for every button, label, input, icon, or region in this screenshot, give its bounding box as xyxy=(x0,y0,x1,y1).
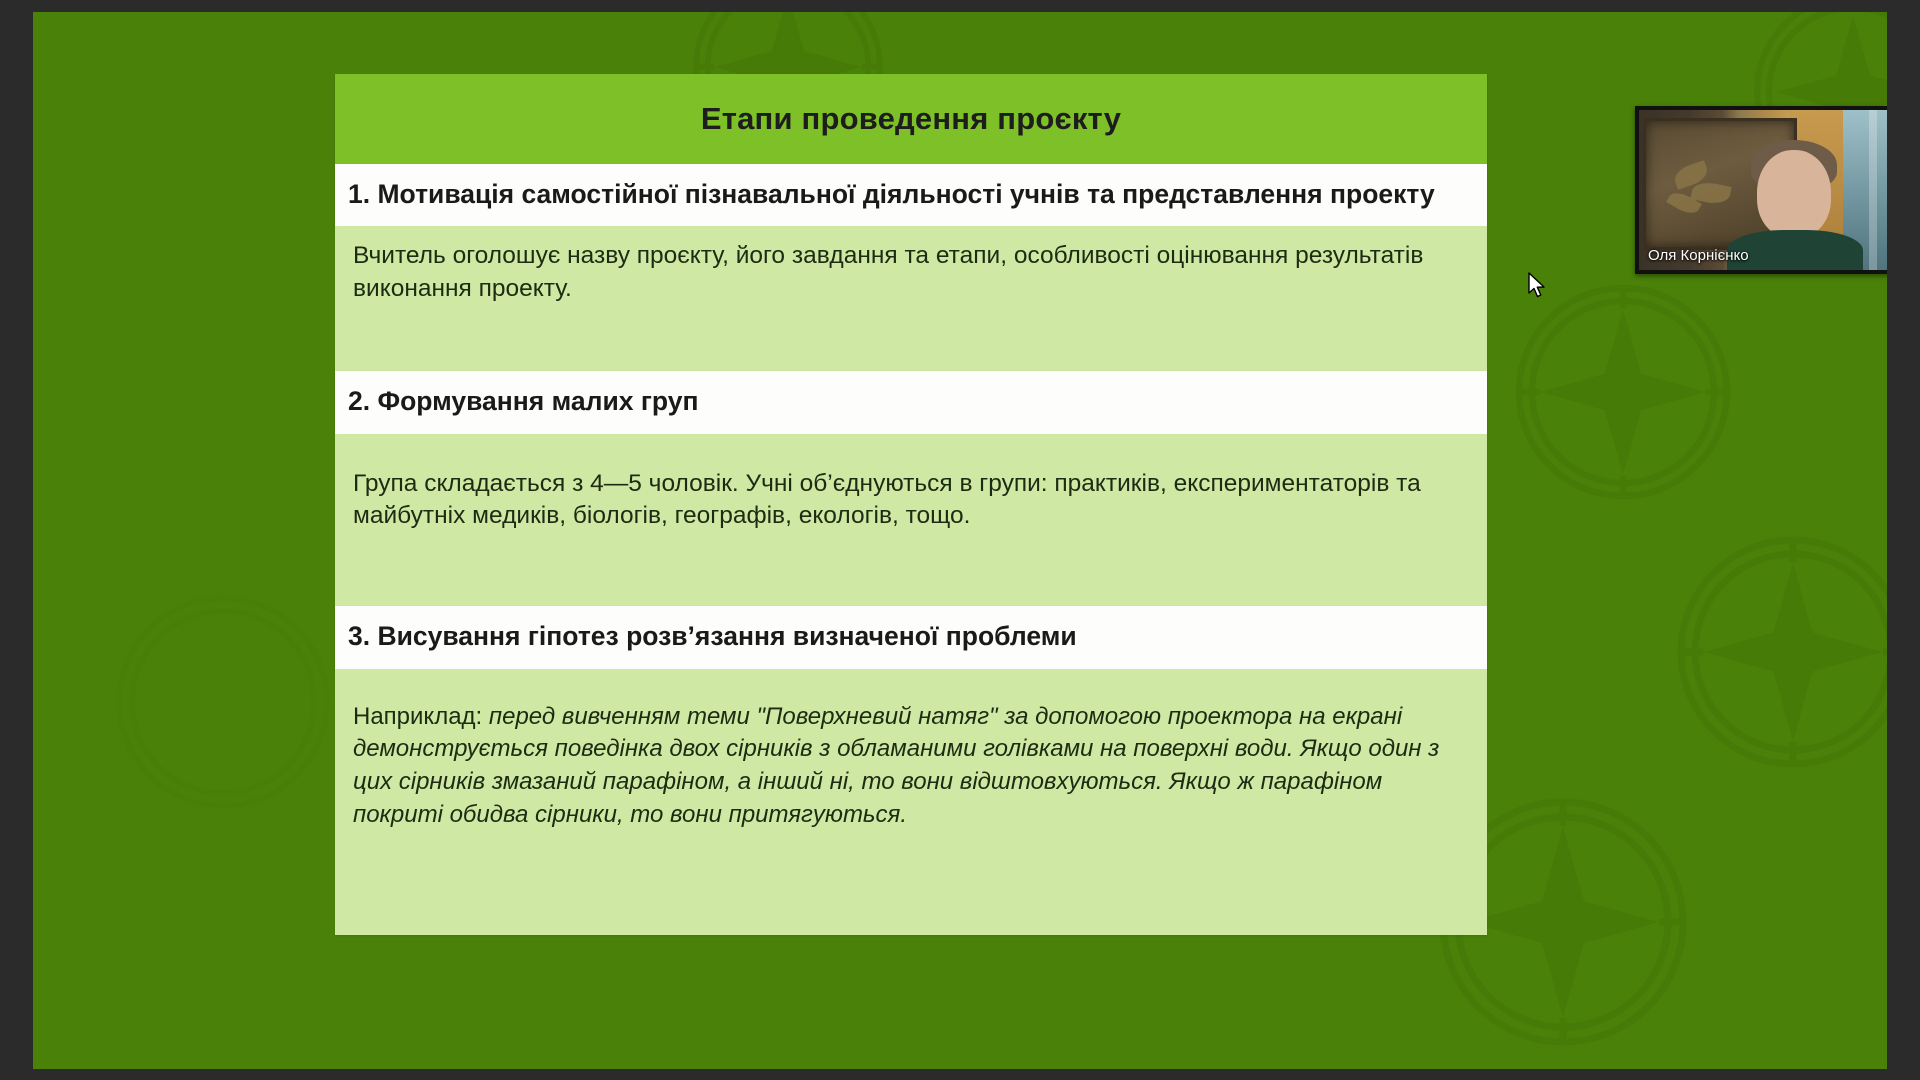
section-heading-2: 2. Формування малих груп xyxy=(335,371,1487,433)
section-heading-text: 2. Формування малих груп xyxy=(343,384,1487,418)
section-heading-text: 1. Мотивація самостійної пізнавальної ді… xyxy=(343,177,1487,211)
section-body-text: Вчитель оголошує назву проєкту, його зав… xyxy=(335,226,1487,319)
compass-icon xyxy=(1493,262,1753,522)
section-body-1: Вчитель оголошує назву проєкту, його зав… xyxy=(335,226,1487,371)
slide-title-bar: Етапи проведення проєкту xyxy=(335,74,1487,164)
section-heading-3: 3. Висування гіпотез розв’язання визначе… xyxy=(335,606,1487,668)
page-title: Етапи проведення проєкту xyxy=(701,101,1121,137)
participant-video-tile[interactable]: Оля Корнієнко xyxy=(1635,106,1887,274)
screen-share-window: Етапи проведення проєкту 1. Мотивація са… xyxy=(0,0,1920,1080)
window-frame-bar xyxy=(1869,110,1877,274)
section-body-text: Група складається з 4—5 чоловік. Учні об… xyxy=(335,454,1487,547)
section-body-2: Група складається з 4—5 чоловік. Учні об… xyxy=(335,434,1487,607)
section-body-italic: перед вивченням теми "Поверхневий натяг"… xyxy=(353,703,1439,828)
section-heading-1: 1. Мотивація самостійної пізнавальної ді… xyxy=(335,164,1487,226)
slide-content-card: Етапи проведення проєкту 1. Мотивація са… xyxy=(335,74,1487,994)
section-body-text: Наприклад: перед вивченням теми "Поверхн… xyxy=(335,687,1487,846)
section-heading-text: 3. Висування гіпотез розв’язання визначе… xyxy=(343,619,1487,653)
compass-icon xyxy=(93,572,353,832)
section-body-lead: Наприклад: xyxy=(353,703,489,730)
participant-face xyxy=(1757,150,1831,238)
participant-name-label: Оля Корнієнко xyxy=(1644,247,1753,266)
presentation-stage: Етапи проведення проєкту 1. Мотивація са… xyxy=(33,12,1887,1069)
section-body-3: Наприклад: перед вивченням теми "Поверхн… xyxy=(335,669,1487,936)
compass-icon xyxy=(1653,512,1887,792)
